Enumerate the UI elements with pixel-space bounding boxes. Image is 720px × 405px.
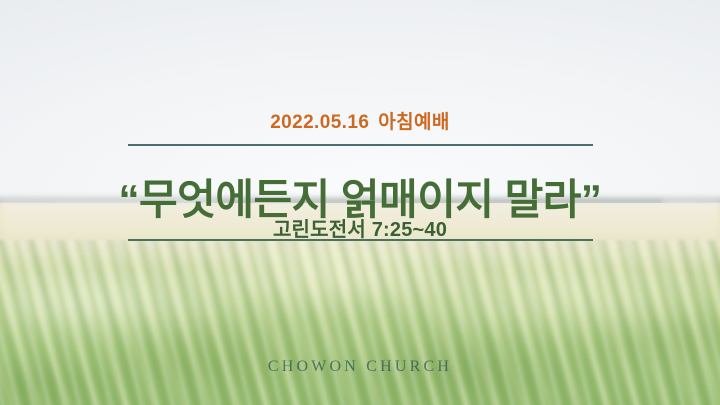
slide-content: 2022.05.16아침예배 “무엇에든지 얽매이지 말라” 고린도전서 7:2… xyxy=(0,0,720,405)
service-name: 아침예배 xyxy=(378,112,450,133)
divider-line-bottom xyxy=(128,239,593,241)
scripture-reference: 고린도전서 7:25~40 xyxy=(0,213,720,242)
service-date: 2022.05.16 xyxy=(270,112,369,133)
divider-line-top xyxy=(128,144,593,146)
service-eyebrow: 2022.05.16아침예배 xyxy=(0,107,720,134)
sermon-title-slide: 2022.05.16아침예배 “무엇에든지 얽매이지 말라” 고린도전서 7:2… xyxy=(0,0,720,405)
